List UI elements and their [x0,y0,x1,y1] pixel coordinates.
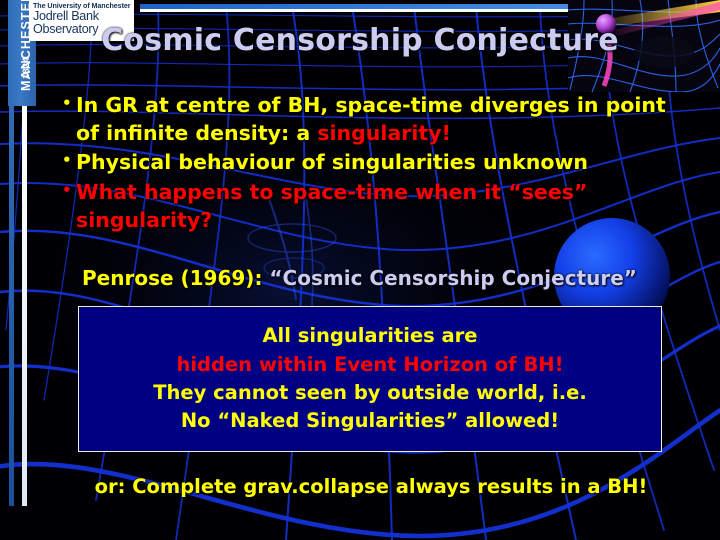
conjecture-statement-box: All singularities are hidden within Even… [78,306,662,452]
slide-canvas: MANCHESTER 1824 The University of Manche… [0,0,720,540]
bullet-segment-red: singularity! [317,121,451,145]
box-line: All singularities are [262,322,477,350]
page-title: Cosmic Censorship Conjecture [0,23,720,58]
bullet-list: • In GR at centre of BH, space-time dive… [62,92,692,236]
bullet-text: What happens to space-time when it “sees… [76,179,692,234]
penrose-label: Penrose (1969): [82,266,269,290]
list-item: • In GR at centre of BH, space-time dive… [62,92,692,147]
penrose-quote: “Cosmic Censorship Conjecture” [269,266,637,290]
list-item: • What happens to space-time when it “se… [62,179,692,234]
footer-note: or: Complete grav.collapse always result… [0,475,720,498]
list-item: • Physical behaviour of singularities un… [62,149,692,177]
left-stripe-blue [9,106,14,506]
bullet-text: Physical behaviour of singularities unkn… [76,149,692,177]
box-line: No “Naked Singularities” allowed! [181,407,559,435]
box-line: They cannot seen by outside world, i.e. [153,379,587,407]
box-line: hidden within Event Horizon of BH! [176,351,563,379]
bullet-dot-icon: • [62,92,76,115]
bullet-dot-icon: • [62,149,76,172]
penrose-citation: Penrose (1969): “Cosmic Censorship Conje… [82,266,637,290]
bullet-text: In GR at centre of BH, space-time diverg… [76,92,692,147]
left-stripe-white [22,106,27,506]
logo-university-line: The University of Manchester [33,2,131,9]
bullet-dot-icon: • [62,179,76,202]
